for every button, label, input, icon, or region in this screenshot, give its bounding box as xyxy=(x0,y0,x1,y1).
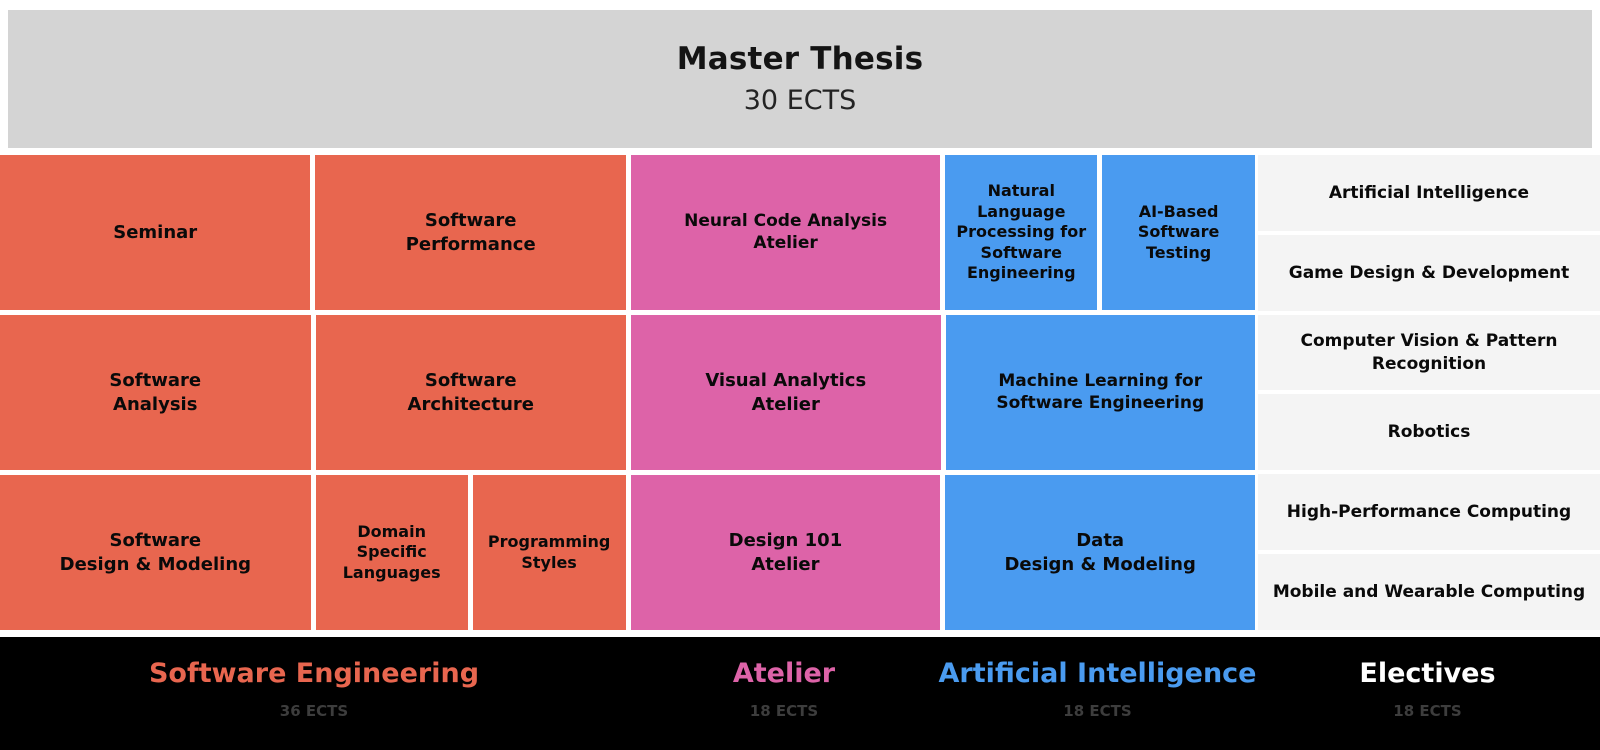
course-cell-label: DomainSpecificLanguages xyxy=(343,522,441,583)
curriculum-diagram: Master Thesis 30 ECTS SeminarSoftwarePer… xyxy=(0,0,1600,750)
master-thesis-ects: 30 ECTS xyxy=(744,86,856,116)
elective-label: Robotics xyxy=(1388,421,1471,443)
legend-item-atelier[interactable]: Atelier18 ECTS xyxy=(628,637,940,750)
elective-label: Mobile and Wearable Computing xyxy=(1273,581,1585,603)
master-thesis-banner: Master Thesis 30 ECTS xyxy=(8,10,1592,148)
electives-column: Artificial IntelligenceGame Design & Dev… xyxy=(1258,155,1600,630)
course-cell-data-design-and-modeling[interactable]: DataDesign & Modeling xyxy=(945,475,1255,630)
course-cell-software-architecture[interactable]: SoftwareArchitecture xyxy=(316,315,627,470)
elective-cell-mobile-and-wearable-computing[interactable]: Mobile and Wearable Computing xyxy=(1258,554,1600,630)
legend-item-name: Electives xyxy=(1359,659,1495,689)
course-cell-label: Design 101Atelier xyxy=(729,529,843,575)
legend-item-ects: 18 ECTS xyxy=(750,703,818,720)
course-cell-neural-code-analysis-atelier[interactable]: Neural Code AnalysisAtelier xyxy=(631,155,940,310)
course-cell-visual-analytics-atelier[interactable]: Visual AnalyticsAtelier xyxy=(631,315,941,470)
course-cell-machine-learning-for-software-engineering[interactable]: Machine Learning forSoftware Engineering xyxy=(946,315,1256,470)
legend-item-electives[interactable]: Electives18 ECTS xyxy=(1255,637,1600,750)
legend-item-artificial-intelligence[interactable]: Artificial Intelligence18 ECTS xyxy=(940,637,1255,750)
course-row-3: SoftwareDesign & ModelingDomainSpecificL… xyxy=(0,475,1255,630)
course-cell-software-performance[interactable]: SoftwarePerformance xyxy=(315,155,625,310)
elective-cell-game-design-and-development[interactable]: Game Design & Development xyxy=(1258,235,1600,311)
legend-item-name: Atelier xyxy=(733,659,835,689)
legend-item-software-engineering[interactable]: Software Engineering36 ECTS xyxy=(0,637,628,750)
elective-label: Game Design & Development xyxy=(1289,262,1570,284)
course-row-2: SoftwareAnalysisSoftwareArchitectureVisu… xyxy=(0,315,1255,470)
elective-label: Computer Vision & Pattern Recognition xyxy=(1272,330,1586,374)
course-cell-ai-based-software-testing[interactable]: AI-BasedSoftwareTesting xyxy=(1102,155,1255,310)
course-row-1: SeminarSoftwarePerformanceNeural Code An… xyxy=(0,155,1255,310)
course-cell-label: Visual AnalyticsAtelier xyxy=(705,369,866,415)
course-cell-domain-specific-languages[interactable]: DomainSpecificLanguages xyxy=(316,475,468,630)
course-cell-label: SoftwarePerformance xyxy=(406,209,536,255)
course-grid: SeminarSoftwarePerformanceNeural Code An… xyxy=(0,155,1600,630)
course-cell-label: SoftwareArchitecture xyxy=(408,369,534,415)
elective-label: Artificial Intelligence xyxy=(1329,182,1529,204)
course-cell-label: SoftwareAnalysis xyxy=(109,369,201,415)
legend-item-name: Software Engineering xyxy=(149,659,479,689)
legend-item-ects: 18 ECTS xyxy=(1063,703,1131,720)
elective-cell-robotics[interactable]: Robotics xyxy=(1258,394,1600,470)
course-cell-label: DataDesign & Modeling xyxy=(1004,529,1195,575)
elective-cell-high-performance-computing[interactable]: High-Performance Computing xyxy=(1258,474,1600,550)
course-cell-label: Machine Learning forSoftware Engineering xyxy=(996,371,1204,415)
course-cell-software-analysis[interactable]: SoftwareAnalysis xyxy=(0,315,311,470)
course-cell-programming-styles[interactable]: ProgrammingStyles xyxy=(473,475,626,630)
course-cell-label: ProgrammingStyles xyxy=(488,532,610,573)
track-legend: Software Engineering36 ECTSAtelier18 ECT… xyxy=(0,637,1600,750)
course-cell-natural-language-processing-for-software-engineering[interactable]: NaturalLanguageProcessing forSoftwareEng… xyxy=(945,155,1097,310)
master-thesis-title: Master Thesis xyxy=(677,42,924,76)
legend-item-ects: 36 ECTS xyxy=(280,703,348,720)
course-cell-design-101-atelier[interactable]: Design 101Atelier xyxy=(631,475,941,630)
elective-cell-computer-vision-and-pattern-recognition[interactable]: Computer Vision & Pattern Recognition xyxy=(1258,315,1600,391)
course-cell-label: Neural Code AnalysisAtelier xyxy=(684,211,887,255)
course-cell-seminar[interactable]: Seminar xyxy=(0,155,310,310)
course-cell-label: SoftwareDesign & Modeling xyxy=(60,529,251,575)
elective-cell-artificial-intelligence[interactable]: Artificial Intelligence xyxy=(1258,155,1600,231)
legend-item-ects: 18 ECTS xyxy=(1393,703,1461,720)
course-cell-label: Seminar xyxy=(113,221,197,244)
legend-item-name: Artificial Intelligence xyxy=(939,659,1257,689)
course-cell-label: AI-BasedSoftwareTesting xyxy=(1138,202,1219,263)
course-cell-software-design-and-modeling[interactable]: SoftwareDesign & Modeling xyxy=(0,475,311,630)
course-cell-label: NaturalLanguageProcessing forSoftwareEng… xyxy=(956,181,1086,283)
elective-label: High-Performance Computing xyxy=(1287,501,1571,523)
